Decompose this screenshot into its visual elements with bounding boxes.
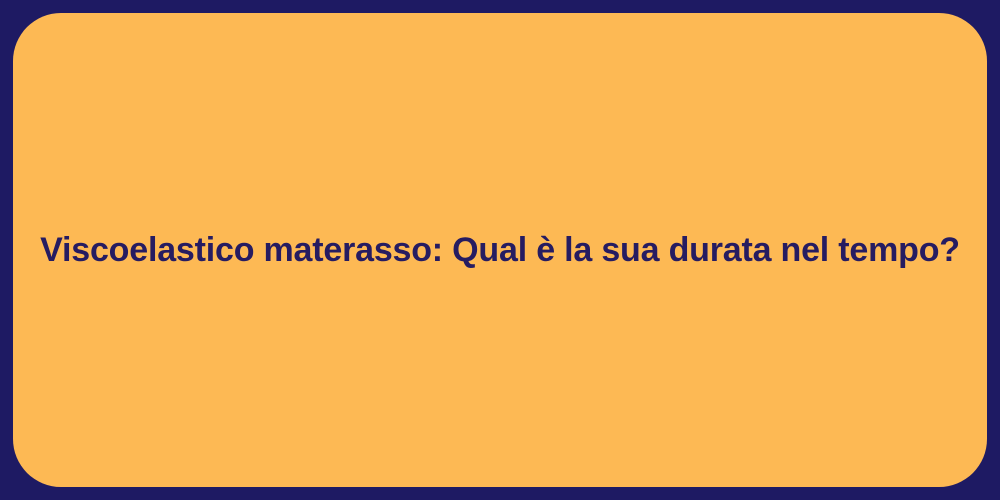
card-outer-frame: Viscoelastico materasso: Qual è la sua d… [0,0,1000,500]
page-title: Viscoelastico materasso: Qual è la sua d… [40,229,960,272]
card-panel: Viscoelastico materasso: Qual è la sua d… [13,13,987,487]
